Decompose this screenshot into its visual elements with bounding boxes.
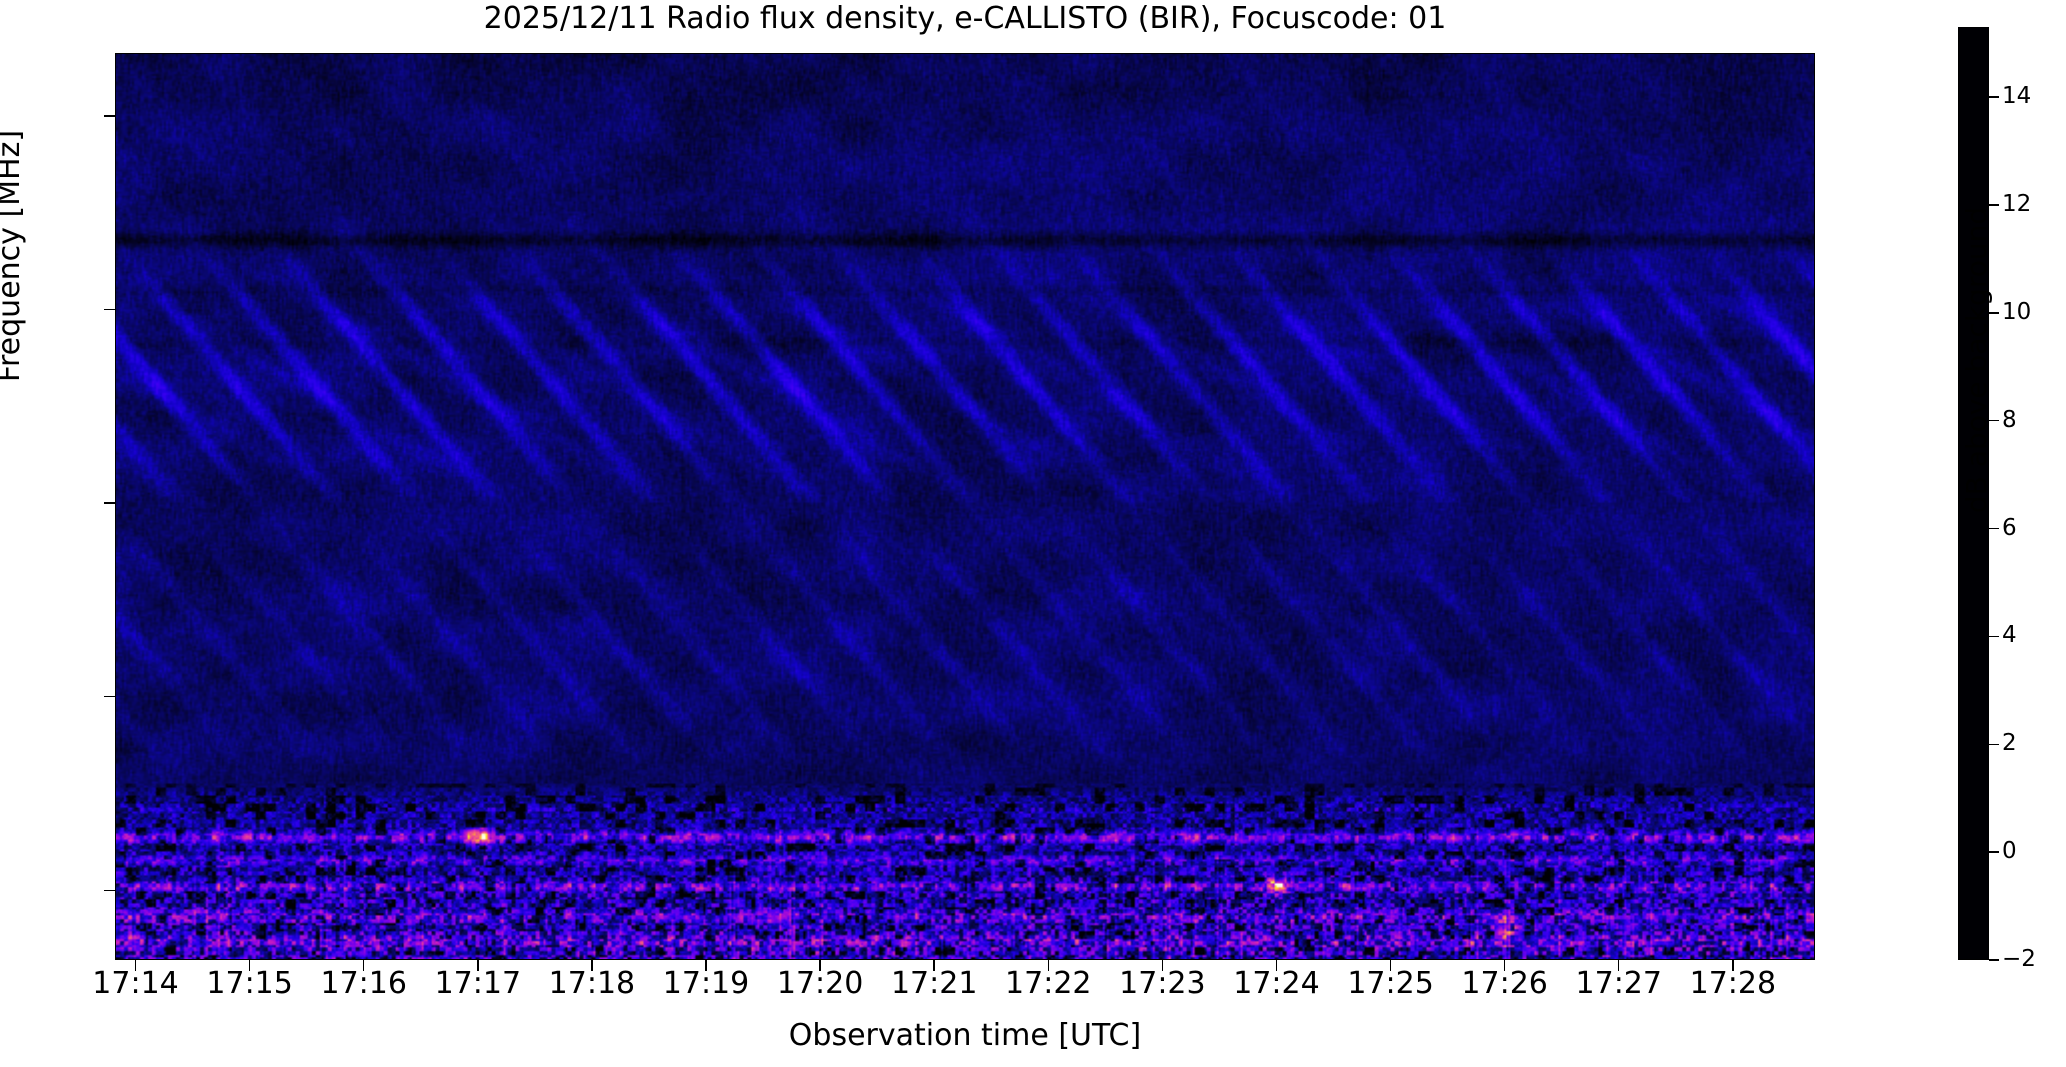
colorbar-tick-label: 2	[2002, 732, 2017, 755]
x-tick-label: 17:28	[1648, 969, 1818, 999]
colorbar-tick-label: 10	[2002, 301, 2031, 324]
colorbar-tick-label: 0	[2002, 840, 2017, 863]
page-title: 2025/12/11 Radio flux density, e-CALLIST…	[115, 2, 1815, 36]
y-tick-mark	[104, 502, 115, 503]
colorbar-tick-mark	[1989, 851, 1999, 852]
y-tick-mark	[104, 696, 115, 697]
spectrogram-image	[116, 54, 1814, 959]
colorbar-tick-label: 12	[2002, 193, 2031, 216]
colorbar-tick-label: 4	[2002, 624, 2017, 647]
colorbar-tick-label: 6	[2002, 517, 2017, 540]
y-tick-mark	[104, 115, 115, 116]
colorbar-tick-mark	[1989, 744, 1999, 745]
colorbar-tick-label: 8	[2002, 409, 2017, 432]
y-axis-label: Frequency [MHz]	[0, 6, 27, 506]
y-tick-mark	[104, 890, 115, 891]
colorbar-tick-mark	[1989, 959, 1999, 960]
spectrogram-plot-area	[115, 53, 1815, 960]
colorbar-tick-label: 14	[2002, 85, 2031, 108]
colorbar-label: dB above background	[1960, 0, 1993, 740]
colorbar-tick-label: −2	[2002, 948, 2036, 971]
y-tick-mark	[104, 309, 115, 310]
x-axis-label: Observation time [UTC]	[115, 1018, 1815, 1053]
